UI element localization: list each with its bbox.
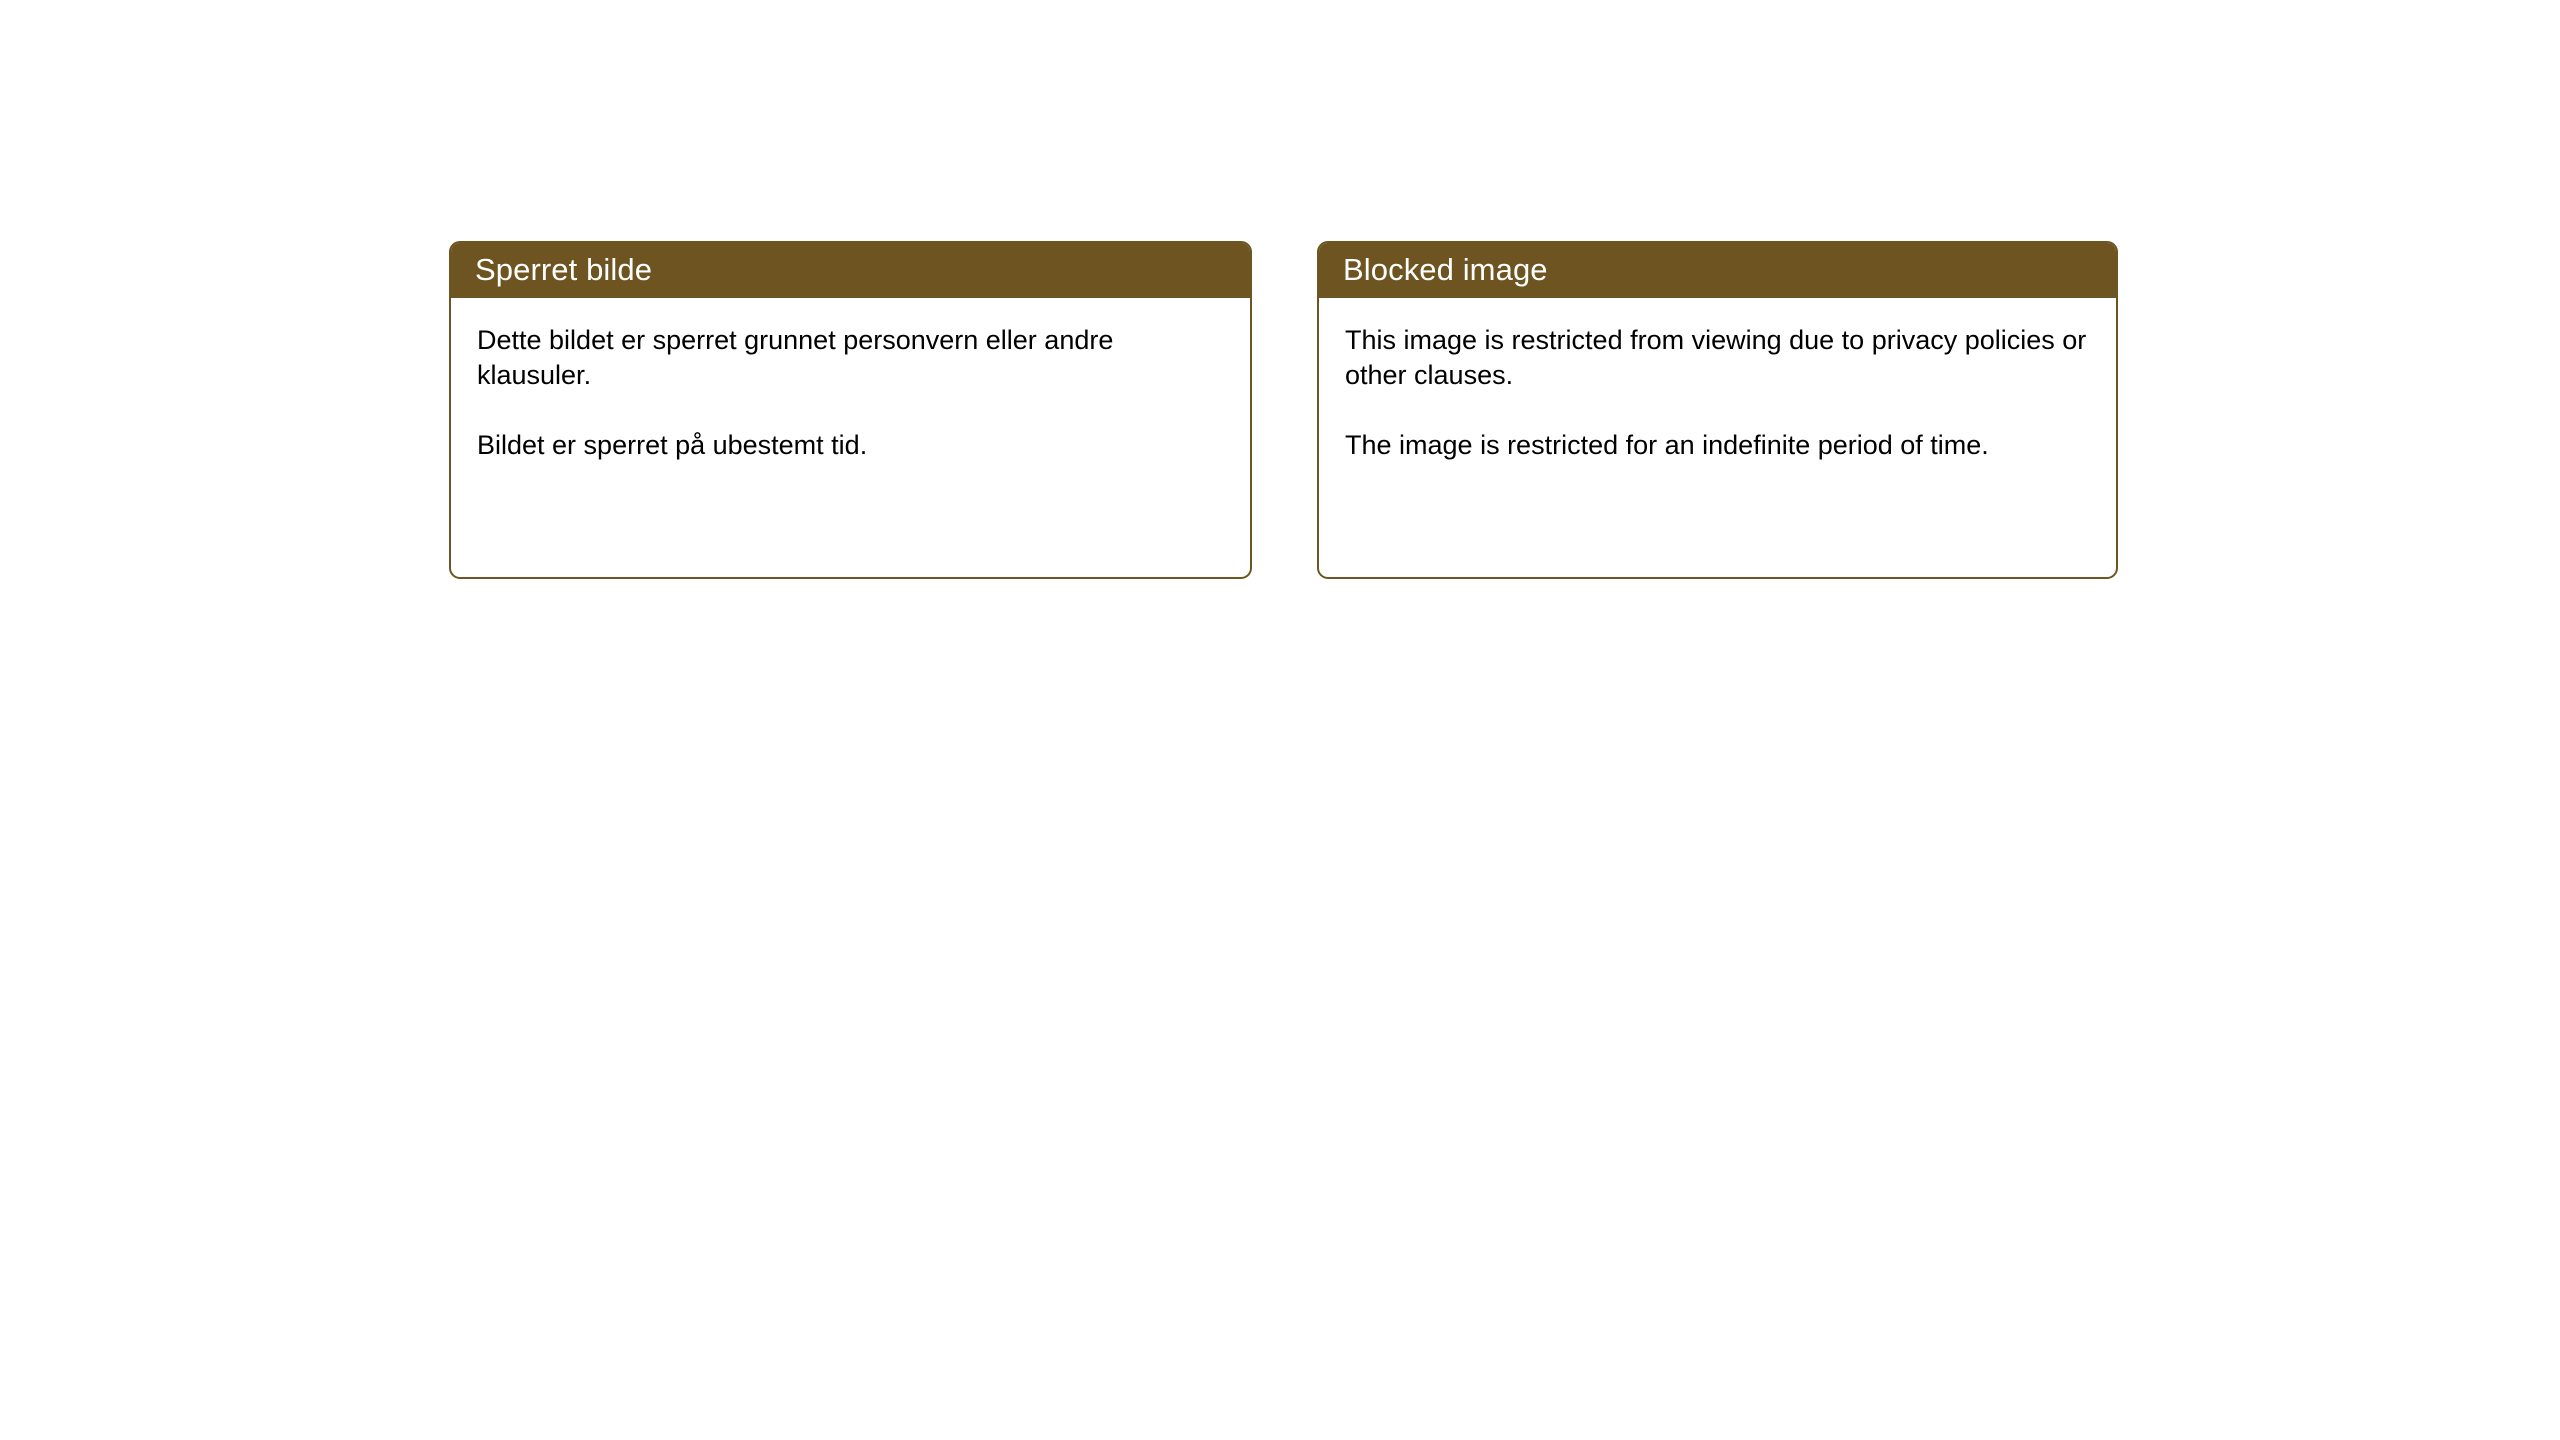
card-title-no: Sperret bilde [475,252,652,288]
blocked-image-notice-en: Blocked image This image is restricted f… [1317,241,2118,579]
paragraph-spacer-no [477,393,1226,428]
blocked-image-notice-no: Sperret bilde Dette bildet er sperret gr… [449,241,1252,579]
card-paragraph-secondary-en: The image is restricted for an indefinit… [1345,428,2092,463]
card-paragraph-secondary-no: Bildet er sperret på ubestemt tid. [477,428,1226,463]
card-title-en: Blocked image [1343,252,1548,288]
card-body-no: Dette bildet er sperret grunnet personve… [451,298,1250,463]
card-header-no: Sperret bilde [449,241,1252,298]
card-paragraph-primary-en: This image is restricted from viewing du… [1345,323,2092,393]
page-canvas: Sperret bilde Dette bildet er sperret gr… [0,0,2560,1440]
card-paragraph-primary-no: Dette bildet er sperret grunnet personve… [477,323,1226,393]
paragraph-spacer-en [1345,393,2092,428]
card-header-en: Blocked image [1317,241,2118,298]
card-body-en: This image is restricted from viewing du… [1319,298,2116,463]
